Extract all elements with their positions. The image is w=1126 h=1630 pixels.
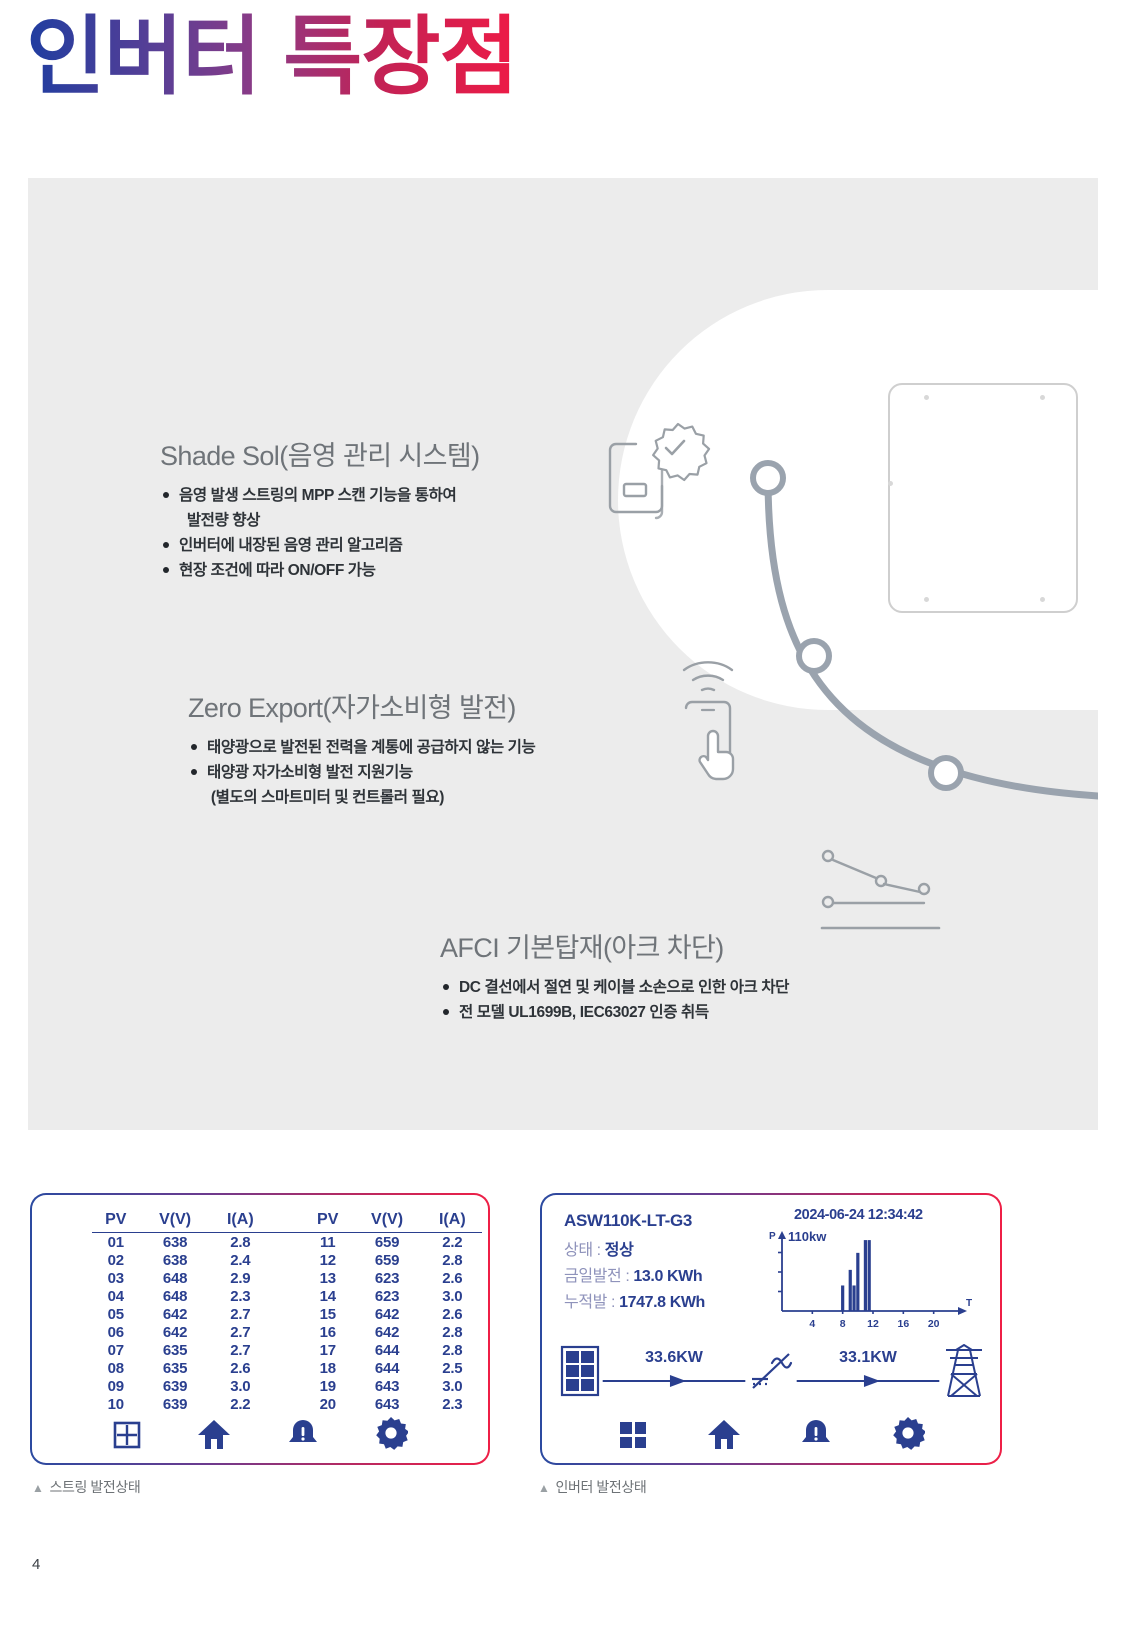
svg-text:8: 8 xyxy=(840,1318,846,1330)
bullet-dot-icon xyxy=(443,1009,449,1015)
chart-bar xyxy=(868,1240,871,1311)
cell: 14 xyxy=(304,1287,351,1305)
feature-bullet: 태양광으로 발전된 전력을 계통에 공급하지 않는 기능 xyxy=(188,735,535,760)
cell: 639 xyxy=(139,1395,210,1413)
dc-ac-inverter-icon xyxy=(748,1349,794,1398)
cell: 17 xyxy=(304,1341,351,1359)
feature-shade-sol: Shade Sol(음영 관리 시스템) 음영 발생 스트링의 MPP 스캔 기… xyxy=(160,434,479,583)
cell: 12 xyxy=(304,1251,351,1269)
cell: 2.6 xyxy=(423,1269,482,1287)
cell: 2.9 xyxy=(211,1269,270,1287)
cell: 01 xyxy=(92,1233,139,1252)
cell: 635 xyxy=(139,1341,210,1359)
table-row: 106392.2206432.3 xyxy=(92,1395,482,1413)
cell: 19 xyxy=(304,1377,351,1395)
string-table-body: 016382.8116592.2026382.4126592.8036482.9… xyxy=(92,1233,482,1414)
cell: 2.6 xyxy=(423,1305,482,1323)
cell: 648 xyxy=(139,1287,210,1305)
page-number: 4 xyxy=(32,1556,40,1573)
bullet-text: 태양광 자가소비형 발전 지원기능 xyxy=(207,764,413,781)
table-row: 076352.7176442.8 xyxy=(92,1341,482,1359)
cell: 11 xyxy=(304,1233,351,1252)
feature-afci: AFCI 기본탑재(아크 차단) DC 결선에서 절연 및 케이블 소손으로 인… xyxy=(440,926,789,1025)
feature-bullet-list: 음영 발생 스트링의 MPP 스캔 기능을 통하여 발전량 향상 인버터에 내장… xyxy=(160,483,479,583)
cell: 635 xyxy=(139,1359,210,1377)
bullet-dot-icon xyxy=(163,542,169,548)
cell: 644 xyxy=(351,1359,422,1377)
table-row: 046482.3146233.0 xyxy=(92,1287,482,1305)
daily-yield-row: 금일발전 : 13.0 KWh xyxy=(564,1264,779,1290)
col-i-1: I(A) xyxy=(211,1211,270,1233)
col-pv-2: PV xyxy=(304,1211,351,1233)
bullet-dot-icon xyxy=(163,567,169,573)
cell: 638 xyxy=(139,1233,210,1252)
bullet-text: DC 결선에서 절연 및 케이블 소손으로 인한 아크 차단 xyxy=(459,979,789,996)
cell: 642 xyxy=(139,1305,210,1323)
dashboard-grid-icon[interactable] xyxy=(618,1420,648,1455)
inverter-status-card: ASW110K-LT-G3 상태 : 정상 금일발전 : 13.0 KWh 누적… xyxy=(540,1193,1002,1465)
feature-bullet-cont: 발전량 향상 xyxy=(160,508,479,533)
triangle-icon: ▲ xyxy=(538,1481,549,1495)
chart-bar xyxy=(849,1270,852,1311)
transmission-tower-icon xyxy=(942,1344,986,1403)
power-chart: 2024-06-24 12:34:42 PT110kw48121620 xyxy=(764,1207,990,1335)
cell: 08 xyxy=(92,1359,139,1377)
alarm-bell-icon[interactable] xyxy=(287,1418,319,1455)
ac-flow-segment: 33.1KW xyxy=(794,1351,942,1395)
bullet-dot-icon xyxy=(191,744,197,750)
cell: 639 xyxy=(139,1377,210,1395)
string-card-caption: ▲스트링 발전상태 xyxy=(32,1477,140,1497)
cell: 18 xyxy=(304,1359,351,1377)
cell-spacer xyxy=(270,1395,304,1413)
feature-bullet-list: DC 결선에서 절연 및 케이블 소손으로 인한 아크 차단 전 모델 UL16… xyxy=(440,975,789,1025)
cell: 2.8 xyxy=(423,1341,482,1359)
cell: 05 xyxy=(92,1305,139,1323)
inverter-status-row: 상태 : 정상 xyxy=(564,1238,779,1264)
dc-flow-segment: 33.6KW xyxy=(600,1351,748,1395)
dc-power-value: 33.6KW xyxy=(600,1349,748,1367)
cell: 644 xyxy=(351,1341,422,1359)
bullet-text: 인버터에 내장된 음영 관리 알고리즘 xyxy=(179,537,403,554)
cell: 2.8 xyxy=(423,1323,482,1341)
table-row: 096393.0196433.0 xyxy=(92,1377,482,1395)
cell: 2.7 xyxy=(211,1323,270,1341)
inverter-info: ASW110K-LT-G3 상태 : 정상 금일발전 : 13.0 KWh 누적… xyxy=(564,1211,779,1316)
feature-heading: Shade Sol(음영 관리 시스템) xyxy=(160,434,479,473)
cell: 20 xyxy=(304,1395,351,1413)
inverter-model: ASW110K-LT-G3 xyxy=(564,1211,779,1231)
bullet-dot-icon xyxy=(163,492,169,498)
chart-bar xyxy=(864,1240,867,1311)
cell: 648 xyxy=(139,1269,210,1287)
col-v-1: V(V) xyxy=(139,1211,210,1233)
total-yield-label: 누적발 : xyxy=(564,1294,615,1311)
bullet-text: (별도의 스마트미터 및 컨트롤러 필요) xyxy=(207,789,444,806)
cell: 2.8 xyxy=(423,1251,482,1269)
cell: 3.0 xyxy=(423,1377,482,1395)
feature-panel: Shade Sol(음영 관리 시스템) 음영 발생 스트링의 MPP 스캔 기… xyxy=(28,178,1098,1130)
table-row: 056422.7156422.6 xyxy=(92,1305,482,1323)
svg-text:P: P xyxy=(769,1231,776,1242)
bullet-dot-icon xyxy=(443,984,449,990)
string-status-card: PV V(V) I(A) PV V(V) I(A) 016382.8116592… xyxy=(30,1193,490,1465)
svg-text:4: 4 xyxy=(809,1318,815,1330)
table-row: 016382.8116592.2 xyxy=(92,1233,482,1252)
chart-bar xyxy=(852,1285,855,1311)
table-row: 026382.4126592.8 xyxy=(92,1251,482,1269)
feature-bullet: DC 결선에서 절연 및 케이블 소손으로 인한 아크 차단 xyxy=(440,975,789,1000)
cell: 2.7 xyxy=(211,1305,270,1323)
table-header-row: PV V(V) I(A) PV V(V) I(A) xyxy=(92,1211,482,1233)
total-yield-row: 누적발 : 1747.8 KWh xyxy=(564,1290,779,1316)
cell: 642 xyxy=(139,1323,210,1341)
inverter-card-caption: ▲인버터 발전상태 xyxy=(538,1477,646,1497)
bullet-text: 음영 발생 스트링의 MPP 스캔 기능을 통하여 xyxy=(179,487,456,504)
daily-yield-value: 13.0 KWh xyxy=(633,1268,702,1285)
cell: 13 xyxy=(304,1269,351,1287)
cell-spacer xyxy=(270,1323,304,1341)
status-label: 상태 : xyxy=(564,1242,601,1259)
slide-page: 인버터 특장점 Shade Sol(음영 관리 시스템) 음영 발생 스트링의 … xyxy=(0,0,1126,1630)
cell-spacer xyxy=(270,1251,304,1269)
cell: 638 xyxy=(139,1251,210,1269)
bullet-text: 태양광으로 발전된 전력을 계통에 공급하지 않는 기능 xyxy=(207,739,535,756)
col-pv-1: PV xyxy=(92,1211,139,1233)
feature-heading: Zero Export(자가소비형 발전) xyxy=(188,686,535,725)
cell: 2.8 xyxy=(211,1233,270,1252)
settings-gear-icon[interactable] xyxy=(374,1416,408,1455)
cell: 07 xyxy=(92,1341,139,1359)
feature-bullet-cont: (별도의 스마트미터 및 컨트롤러 필요) xyxy=(188,785,535,810)
svg-text:16: 16 xyxy=(897,1318,909,1330)
daily-yield-label: 금일발전 : xyxy=(564,1268,629,1285)
cell: 10 xyxy=(92,1395,139,1413)
cell: 623 xyxy=(351,1269,422,1287)
home-icon[interactable] xyxy=(197,1418,231,1455)
triangle-icon: ▲ xyxy=(32,1481,43,1495)
chart-bar xyxy=(841,1285,844,1311)
home-icon[interactable] xyxy=(707,1418,741,1455)
feature-bullet: 인버터에 내장된 음영 관리 알고리즘 xyxy=(160,533,479,558)
cell: 15 xyxy=(304,1305,351,1323)
arc-fault-switch-icon xyxy=(818,840,943,960)
cell-spacer xyxy=(270,1359,304,1377)
cell: 2.5 xyxy=(423,1359,482,1377)
cell: 659 xyxy=(351,1251,422,1269)
feature-heading: AFCI 기본탑재(아크 차단) xyxy=(440,926,789,965)
cell: 2.3 xyxy=(211,1287,270,1305)
status-value: 정상 xyxy=(605,1242,634,1259)
smartphone-wifi-touch-icon xyxy=(668,648,768,788)
cell: 643 xyxy=(351,1377,422,1395)
cell-spacer xyxy=(270,1269,304,1287)
caption-text: 스트링 발전상태 xyxy=(49,1479,140,1495)
cell: 04 xyxy=(92,1287,139,1305)
cell: 2.4 xyxy=(211,1251,270,1269)
chart-timestamp: 2024-06-24 12:34:42 xyxy=(794,1207,923,1223)
ac-power-value: 33.1KW xyxy=(794,1349,942,1367)
page-title: 인버터 특장점 xyxy=(26,8,518,107)
table-row: 086352.6186442.5 xyxy=(92,1359,482,1377)
col-i-2: I(A) xyxy=(423,1211,482,1233)
cell: 659 xyxy=(351,1233,422,1252)
caption-text: 인버터 발전상태 xyxy=(555,1479,646,1495)
col-v-2: V(V) xyxy=(351,1211,422,1233)
power-flow-diagram: 33.6KW 33.1KW xyxy=(560,1343,986,1403)
cell: 2.2 xyxy=(211,1395,270,1413)
cell: 2.6 xyxy=(211,1359,270,1377)
bullet-dot-icon xyxy=(191,769,197,775)
cell: 16 xyxy=(304,1323,351,1341)
cell: 06 xyxy=(92,1323,139,1341)
cell: 2.7 xyxy=(211,1341,270,1359)
cell: 3.0 xyxy=(423,1287,482,1305)
feature-zero-export: Zero Export(자가소비형 발전) 태양광으로 발전된 전력을 계통에 … xyxy=(188,686,535,810)
feature-bullet: 전 모델 UL1699B, IEC63027 인증 취득 xyxy=(440,1000,789,1025)
cell: 2.3 xyxy=(423,1395,482,1413)
grid-window-icon[interactable] xyxy=(112,1420,142,1455)
inverter-device-illustration xyxy=(888,383,1078,613)
alarm-bell-icon[interactable] xyxy=(800,1418,832,1455)
chart-bar xyxy=(856,1253,859,1311)
cell: 623 xyxy=(351,1287,422,1305)
cell: 3.0 xyxy=(211,1377,270,1395)
inverter-card-nav[interactable] xyxy=(542,1416,1000,1455)
cell: 642 xyxy=(351,1323,422,1341)
cell: 2.2 xyxy=(423,1233,482,1252)
string-table: PV V(V) I(A) PV V(V) I(A) 016382.8116592… xyxy=(92,1211,482,1413)
cell: 09 xyxy=(92,1377,139,1395)
svg-text:110kw: 110kw xyxy=(788,1229,827,1244)
cell-spacer xyxy=(270,1305,304,1323)
feature-bullet-list: 태양광으로 발전된 전력을 계통에 공급하지 않는 기능 태양광 자가소비형 발… xyxy=(188,735,535,810)
cell-spacer xyxy=(270,1377,304,1395)
certificate-document-icon xyxy=(598,420,718,540)
feature-bullet: 음영 발생 스트링의 MPP 스캔 기능을 통하여 xyxy=(160,483,479,508)
cell: 643 xyxy=(351,1395,422,1413)
table-row: 066422.7166422.8 xyxy=(92,1323,482,1341)
bullet-text: 전 모델 UL1699B, IEC63027 인증 취득 xyxy=(459,1004,709,1021)
chart-svg: PT110kw48121620 xyxy=(764,1207,990,1335)
cell-spacer xyxy=(270,1341,304,1359)
col-spacer xyxy=(270,1211,304,1233)
feature-bullet: 현장 조건에 따라 ON/OFF 가능 xyxy=(160,558,479,583)
solar-panel-icon xyxy=(560,1345,600,1402)
cell-spacer xyxy=(270,1233,304,1252)
string-card-nav[interactable] xyxy=(32,1416,488,1455)
bullet-text: 현장 조건에 따라 ON/OFF 가능 xyxy=(179,562,376,579)
cell: 02 xyxy=(92,1251,139,1269)
svg-text:T: T xyxy=(966,1298,972,1309)
cell: 642 xyxy=(351,1305,422,1323)
svg-text:20: 20 xyxy=(928,1318,940,1330)
cell: 03 xyxy=(92,1269,139,1287)
total-yield-value: 1747.8 KWh xyxy=(619,1294,705,1311)
bullet-text: 발전량 향상 xyxy=(179,512,260,529)
settings-gear-icon[interactable] xyxy=(891,1416,925,1455)
feature-bullet: 태양광 자가소비형 발전 지원기능 xyxy=(188,760,535,785)
svg-text:12: 12 xyxy=(867,1318,879,1330)
cell-spacer xyxy=(270,1287,304,1305)
table-row: 036482.9136232.6 xyxy=(92,1269,482,1287)
